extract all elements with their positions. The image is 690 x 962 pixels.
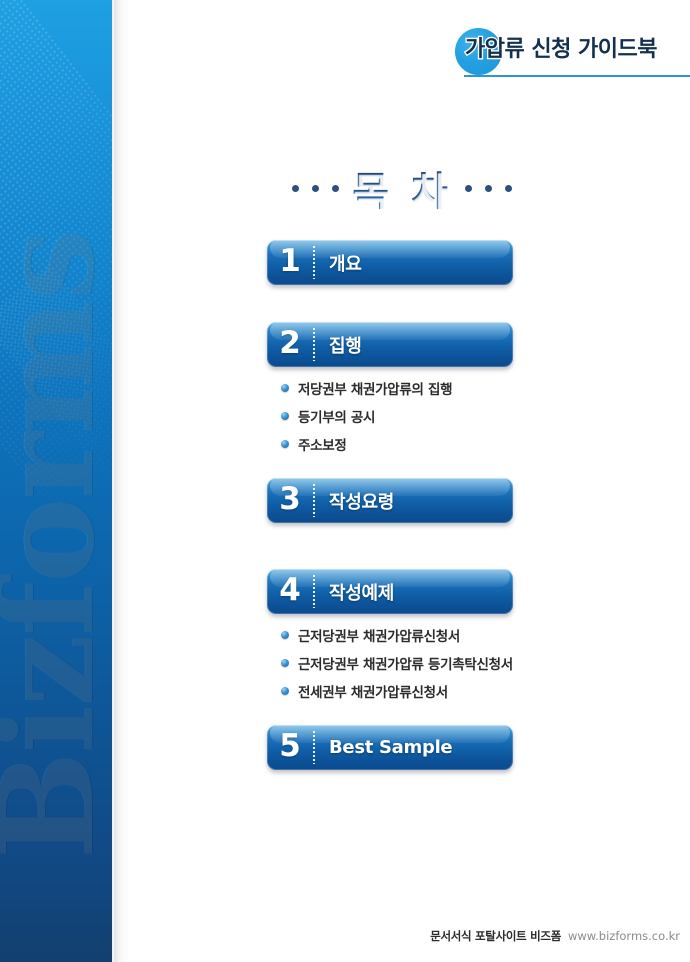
chapter-number: 3 [267,484,313,517]
spacer [267,460,527,478]
spacer [267,560,527,569]
toc-dots-right [465,185,512,192]
bullet-icon [281,659,289,667]
subitem-label: 등기부의 공시 [298,406,375,426]
chapter-label: 작성요령 [329,488,394,514]
bullet-icon [281,412,289,420]
chapter-bar[interactable]: 4 작성예제 [267,569,513,614]
toc-chapter-3: 3 작성요령 [267,478,527,523]
subitem-label: 전세권부 채권가압류신청서 [298,681,448,701]
chapter-bar[interactable]: 1 개요 [267,240,513,285]
list-item[interactable]: 전세권부 채권가압류신청서 [281,679,527,702]
subitem-label: 저당권부 채권가압류의 집행 [298,378,452,398]
bullet-icon [281,631,289,639]
chapter-divider [313,731,315,764]
chapter-bar[interactable]: 3 작성요령 [267,478,513,523]
bullet-icon [281,687,289,695]
toc-dots-left [292,185,339,192]
toc-chapter-list: 1 개요 2 집행 저당권부 채권가압류의 집행 등기부의 공시 [267,240,527,770]
toc-title: 목 차 [352,159,452,217]
spacer [267,523,527,560]
header-underline [464,75,690,77]
chapter-bar[interactable]: 5 Best Sample [267,725,513,770]
toc-heading-row: 목 차 [114,163,690,213]
chapter-divider [313,246,315,279]
toc-dot-icon [292,185,299,192]
toc-dot-icon [332,185,339,192]
chapter-number: 1 [267,246,313,279]
chapter-divider [313,328,315,361]
spacer [267,707,527,725]
left-sidebar-decoration: Bizforms [0,0,112,962]
chapter-label: Best Sample [329,737,452,758]
bullet-icon [281,440,289,448]
chapter-subitem-list: 근저당권부 채권가압류신청서 근저당권부 채권가압류 등기촉탁신청서 전세권부 … [281,623,527,702]
list-item[interactable]: 등기부의 공시 [281,404,527,427]
chapter-divider [313,484,315,517]
document-page: Bizforms 가압류 신청 가이드북 목 차 1 개요 [0,0,690,962]
footer-brand: 문서서식 포탈사이트 비즈폼 [430,928,561,944]
page-footer: 문서서식 포탈사이트 비즈폼 www.bizforms.co.kr [430,928,680,944]
toc-chapter-2: 2 집행 저당권부 채권가압류의 집행 등기부의 공시 주소보정 [267,322,527,455]
page-title: 가압류 신청 가이드북 [465,31,657,63]
list-item[interactable]: 저당권부 채권가압류의 집행 [281,376,527,399]
subitem-label: 근저당권부 채권가압류 등기촉탁신청서 [298,653,513,673]
page-header: 가압류 신청 가이드북 [340,22,690,84]
toc-dot-icon [505,185,512,192]
list-item[interactable]: 근저당권부 채권가압류신청서 [281,623,527,646]
chapter-divider [313,575,315,608]
chapter-subitem-list: 저당권부 채권가압류의 집행 등기부의 공시 주소보정 [281,376,527,455]
chapter-number: 2 [267,328,313,361]
subitem-label: 주소보정 [298,434,346,454]
chapter-number: 4 [267,575,313,608]
spacer [267,285,527,322]
subitem-label: 근저당권부 채권가압류신청서 [298,625,460,645]
chapter-label: 작성예제 [329,579,394,605]
content-inner-shadow [114,0,130,962]
toc-chapter-4: 4 작성예제 근저당권부 채권가압류신청서 근저당권부 채권가압류 등기촉탁신청… [267,569,527,702]
toc-chapter-1: 1 개요 [267,240,527,285]
chapter-number: 5 [267,731,313,764]
footer-url[interactable]: www.bizforms.co.kr [568,929,680,943]
chapter-label: 집행 [329,332,362,358]
chapter-label: 개요 [329,250,362,276]
sidebar-edge-divider [112,0,114,962]
list-item[interactable]: 주소보정 [281,432,527,455]
toc-dot-icon [312,185,319,192]
toc-dot-icon [465,185,472,192]
bullet-icon [281,384,289,392]
chapter-bar[interactable]: 2 집행 [267,322,513,367]
list-item[interactable]: 근저당권부 채권가압류 등기촉탁신청서 [281,651,527,674]
toc-dot-icon [485,185,492,192]
toc-chapter-5: 5 Best Sample [267,725,527,770]
